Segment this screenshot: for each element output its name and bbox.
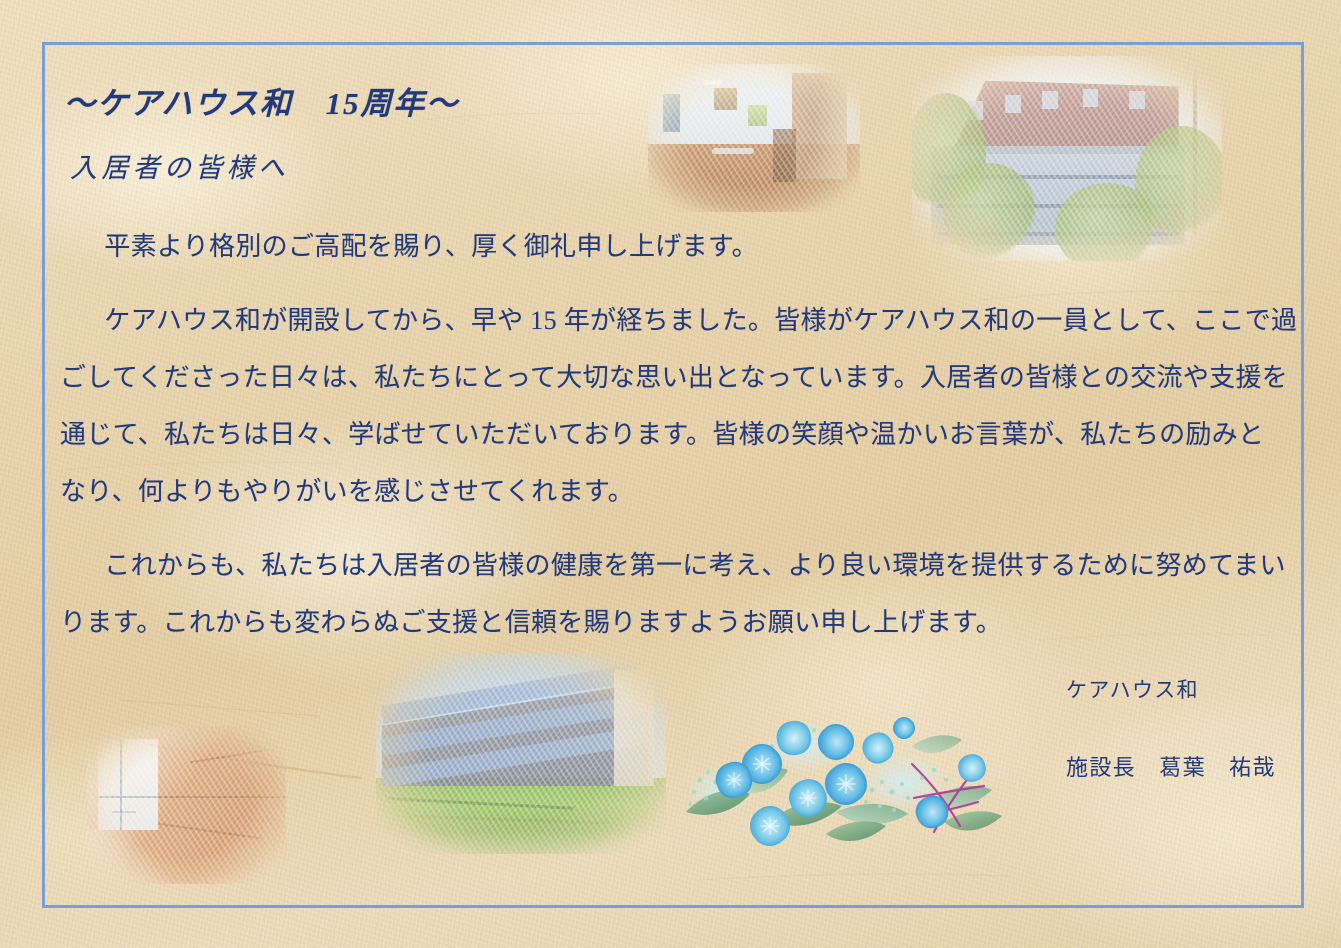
photo-building-three-storey bbox=[376, 654, 666, 854]
photo-region-window bbox=[1005, 95, 1021, 113]
photo-interior-warm-room bbox=[86, 726, 286, 884]
photo-region-window bbox=[1083, 89, 1099, 107]
photo-interior-corridor bbox=[648, 64, 860, 212]
photo-region-foliage bbox=[943, 163, 1036, 261]
photo-region-mat bbox=[712, 148, 754, 154]
photo-region-wall-edge bbox=[158, 796, 286, 798]
photo-region-window-panel bbox=[98, 739, 158, 831]
photo-region-frame-line bbox=[112, 811, 136, 813]
photo-region-wall-art bbox=[663, 94, 680, 132]
photo-region-window bbox=[1042, 91, 1058, 109]
hydrangea-illustration bbox=[676, 694, 1014, 866]
paragraph-greeting-line: 平素より格別のご高配を賜り、厚く御礼申し上げます。 bbox=[78, 226, 758, 263]
photo-region-pillar bbox=[773, 129, 796, 182]
paragraph-anniversary-line: 通じて、私たちは日々、学ばせていただいております。皆様の笑顔や温かいお言葉が、私… bbox=[60, 414, 1264, 451]
photo-building-red-roof bbox=[912, 56, 1222, 261]
photo-region-wall-art bbox=[714, 88, 737, 110]
photo-region-wooden-screen bbox=[792, 73, 847, 180]
photo-region-frame-line bbox=[98, 796, 158, 798]
photo-region-wall-art bbox=[748, 105, 767, 126]
signature-name: 施設長 葛葉 祐哉 bbox=[1066, 750, 1276, 782]
photo-region-ceiling-light bbox=[703, 80, 722, 84]
paragraph-closing-line: これからも、私たちは入居者の皆様の健康を第一に考え、より良い環境を提供するために… bbox=[78, 545, 1286, 582]
photo-region-frame-line bbox=[120, 739, 122, 831]
salutation: 入居者の皆様へ bbox=[70, 146, 289, 185]
paragraph-anniversary-line: ごしてくださった日々は、私たちにとって大切な思い出となっています。入居者の皆様と… bbox=[60, 357, 1288, 394]
paragraph-anniversary-line: なり、何よりもやりがいを感じさせてくれます。 bbox=[60, 471, 634, 508]
paragraph-anniversary-line: ケアハウス和が開設してから、早や 15 年が経ちました。皆様がケアハウス和の一員… bbox=[78, 300, 1297, 337]
photo-region-highlight bbox=[86, 830, 170, 884]
letter-page: 〜ケアハウス和 15周年〜 入居者の皆様へ 平素より格別のご高配を賜り、厚く御礼… bbox=[0, 0, 1341, 948]
paragraph-closing-line: ります。これからも変わらぬご支援と信頼を賜りますようお願い申し上げます。 bbox=[60, 602, 1002, 639]
photo-region-window bbox=[1129, 91, 1145, 109]
signature-organization: ケアハウス和 bbox=[1066, 674, 1199, 704]
page-title: 〜ケアハウス和 15周年〜 bbox=[64, 78, 459, 123]
photo-region-stair-tower bbox=[614, 670, 655, 786]
photo-region-foliage bbox=[1135, 126, 1222, 241]
